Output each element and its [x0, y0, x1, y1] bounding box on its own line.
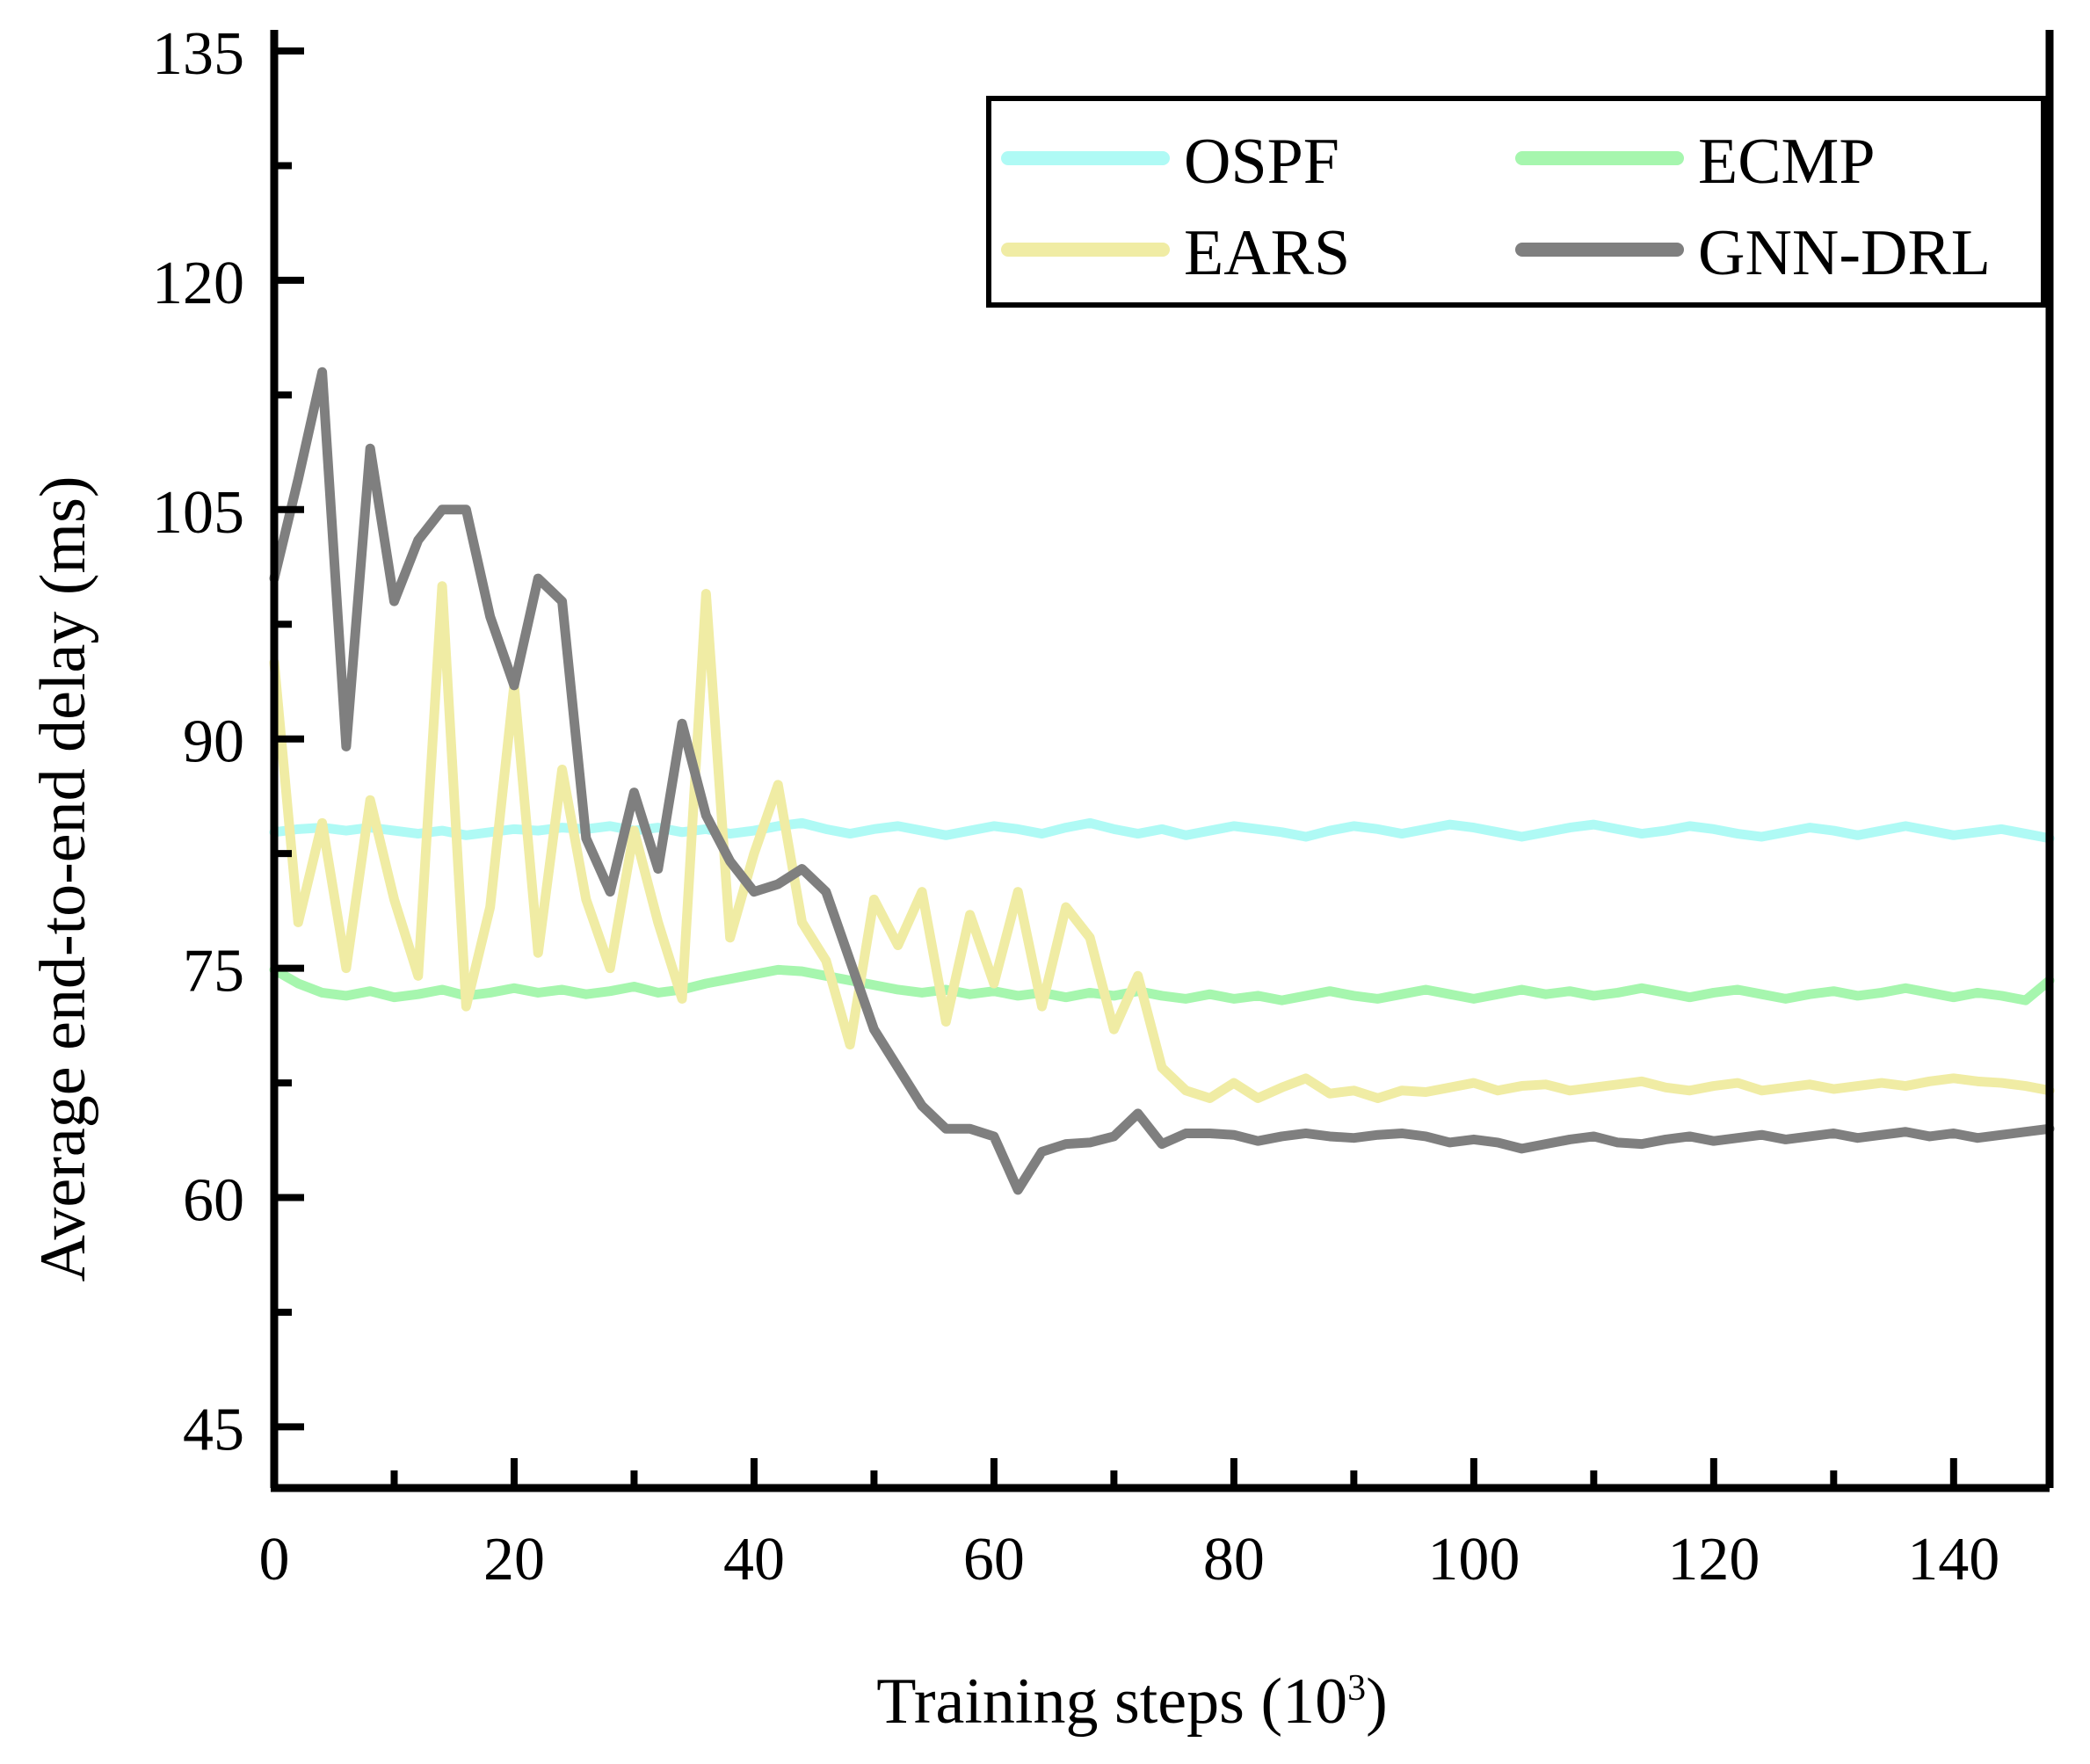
- y-tick-label: 105: [152, 479, 244, 547]
- x-axis-title-superscript: 3: [1347, 1668, 1366, 1709]
- x-tick-label: 140: [1907, 1526, 1999, 1593]
- x-axis-title-base: Training steps (10: [876, 1666, 1347, 1738]
- y-tick-label: 60: [183, 1167, 244, 1235]
- x-tick-label: 0: [259, 1526, 290, 1593]
- x-tick-label: 120: [1667, 1526, 1760, 1593]
- legend-label-ospf: OSPF: [1184, 126, 1339, 198]
- y-tick-label: 75: [183, 938, 244, 1005]
- y-axis-title: Average end-to-end delay (ms): [27, 475, 99, 1281]
- chart-legend: OSPFECMPEARSGNN-DRL: [989, 98, 2043, 305]
- x-tick-label: 100: [1427, 1526, 1520, 1593]
- y-tick-label: 90: [183, 708, 244, 776]
- legend-label-ears: EARS: [1184, 217, 1350, 289]
- chart-figure: 45607590105120135020406080100120140 OSPF…: [0, 0, 2090, 1764]
- x-tick-label: 80: [1203, 1526, 1265, 1593]
- y-tick-label: 135: [152, 20, 244, 88]
- x-tick-label: 60: [963, 1526, 1025, 1593]
- x-axis-title-tail: ): [1366, 1666, 1388, 1738]
- line-chart: 45607590105120135020406080100120140 OSPF…: [0, 0, 2090, 1764]
- legend-label-gnn-drl: GNN-DRL: [1698, 217, 1991, 289]
- x-tick-label: 20: [483, 1526, 545, 1593]
- y-tick-label: 45: [183, 1396, 244, 1463]
- legend-label-ecmp: ECMP: [1698, 126, 1876, 198]
- x-axis-title: Training steps (103): [876, 1666, 1388, 1738]
- y-tick-label: 120: [152, 250, 244, 317]
- x-tick-label: 40: [723, 1526, 785, 1593]
